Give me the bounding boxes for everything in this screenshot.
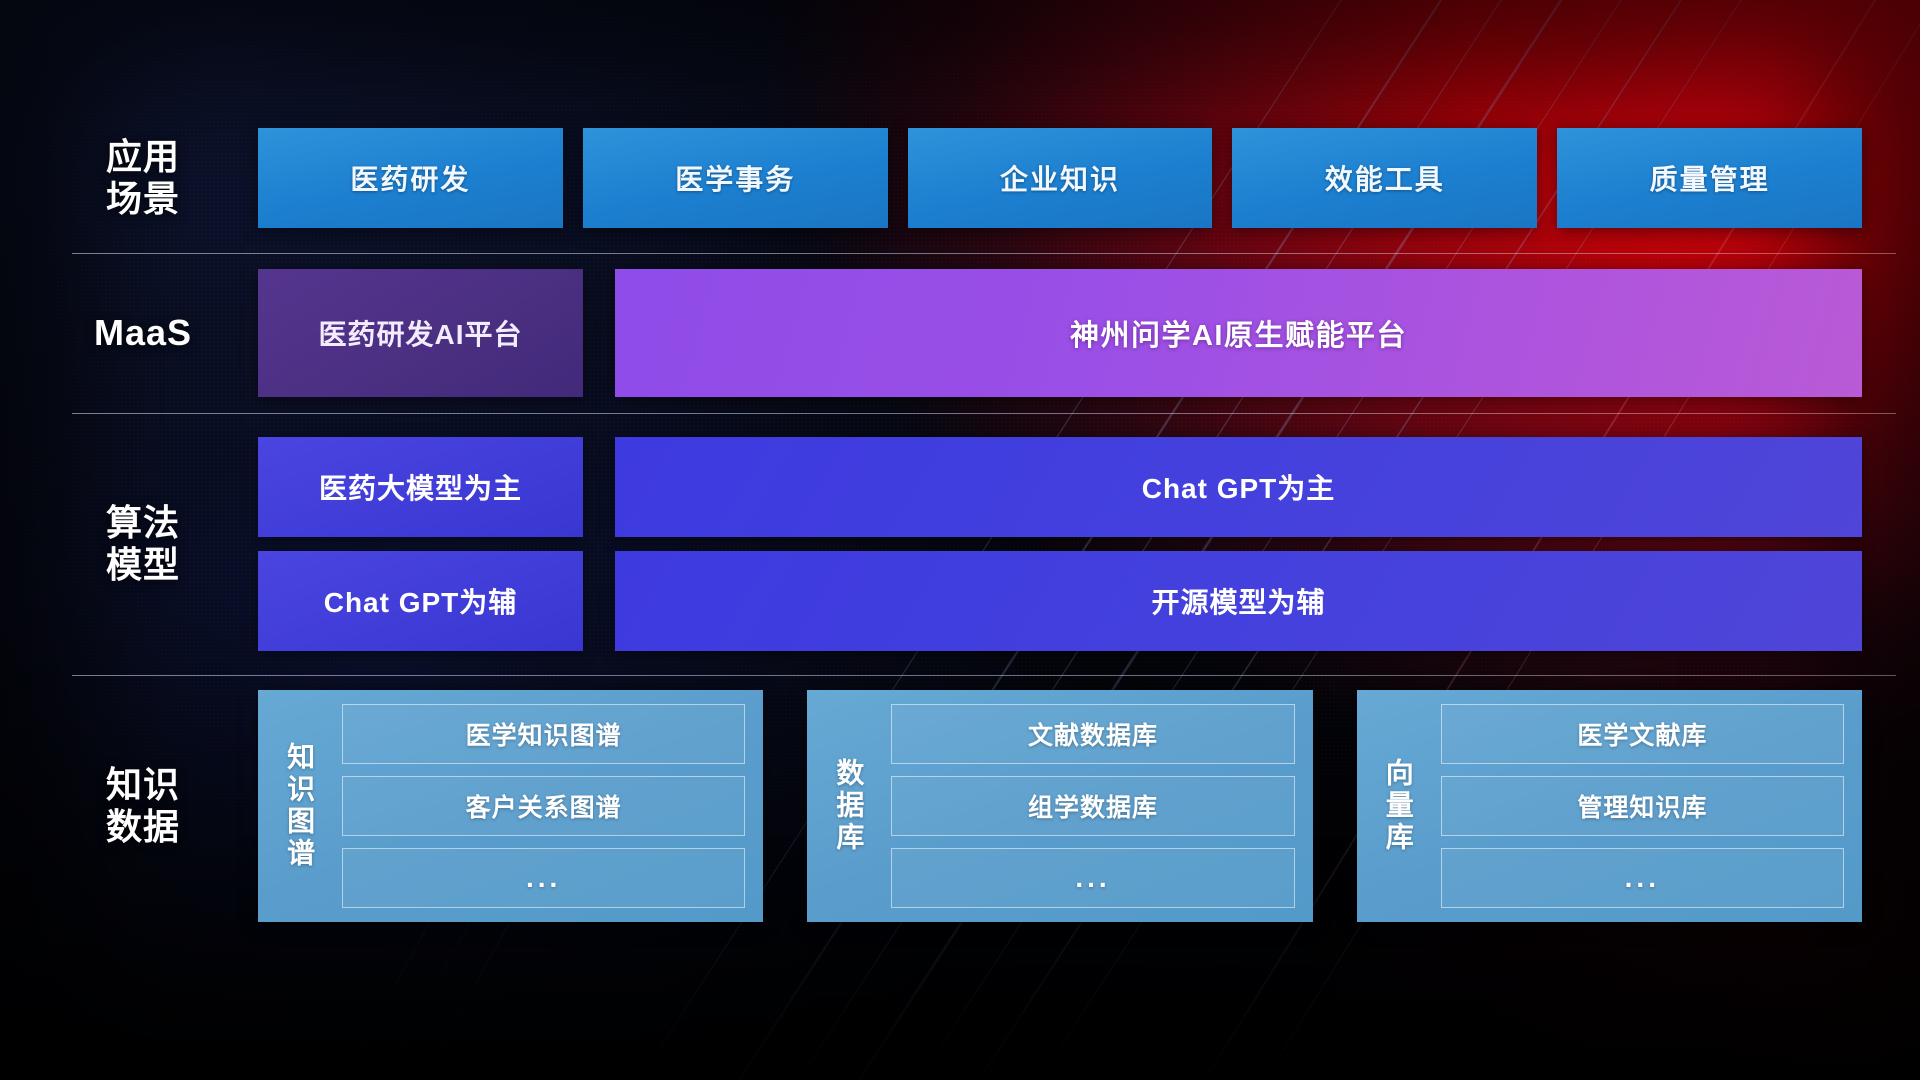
knowledge-item-label: 医学文献库: [1577, 716, 1707, 752]
row-label-algorithm-models: 算法 模型: [0, 502, 258, 587]
app-box-enterprise-knowledge[interactable]: 企业知识: [908, 128, 1213, 228]
knowledge-item-label: 文献数据库: [1028, 716, 1158, 752]
row-maas: 医药研发AI平台 神州问学AI原生赋能平台: [258, 269, 1920, 397]
knowledge-item-more[interactable]: ...: [342, 848, 745, 908]
row-algorithm-models: 医药大模型为主 Chat GPT为主 Chat GPT为辅 开源模型为辅: [258, 437, 1920, 651]
app-box-label: 医学事务: [675, 158, 795, 198]
knowledge-item-management-knowledge-store[interactable]: 管理知识库: [1441, 776, 1844, 836]
knowledge-item-label: 管理知识库: [1577, 788, 1707, 824]
knowledge-group-title: 向量库: [1371, 704, 1425, 908]
algo-line-secondary: Chat GPT为辅 开源模型为辅: [258, 551, 1862, 651]
knowledge-item-label: 组学数据库: [1028, 788, 1158, 824]
architecture-diagram: 应用 场景 医药研发 医学事务 企业知识 效能工具 质量管理 MaaS 医药研发…: [0, 0, 1920, 1080]
knowledge-item-omics-database[interactable]: 组学数据库: [891, 776, 1294, 836]
algo-line-primary: 医药大模型为主 Chat GPT为主: [258, 437, 1862, 537]
app-box-quality-management[interactable]: 质量管理: [1557, 128, 1862, 228]
knowledge-group-knowledge-graph[interactable]: 知识图谱 医学知识图谱 客户关系图谱 ...: [258, 690, 763, 922]
algo-box-label: Chat GPT为辅: [324, 581, 518, 621]
diagram-grid: 应用 场景 医药研发 医学事务 企业知识 效能工具 质量管理 MaaS 医药研发…: [0, 0, 1920, 1080]
maas-box-label: 神州问学AI原生赋能平台: [1070, 312, 1407, 354]
knowledge-group-items: 医学知识图谱 客户关系图谱 ...: [342, 704, 745, 908]
knowledge-item-literature-database[interactable]: 文献数据库: [891, 704, 1294, 764]
knowledge-item-label: 医学知识图谱: [466, 716, 622, 752]
algo-box-label: 开源模型为辅: [1151, 581, 1325, 621]
app-box-label: 企业知识: [1000, 158, 1120, 198]
maas-box-pharma-ai-platform[interactable]: 医药研发AI平台: [258, 269, 583, 397]
algo-box-chatgpt-primary[interactable]: Chat GPT为主: [615, 437, 1862, 537]
knowledge-item-customer-relation-graph[interactable]: 客户关系图谱: [342, 776, 745, 836]
knowledge-group-title: 数据库: [821, 704, 875, 908]
knowledge-item-label: ...: [1075, 862, 1110, 894]
algo-box-pharma-llm-primary[interactable]: 医药大模型为主: [258, 437, 583, 537]
algo-box-label: Chat GPT为主: [1142, 467, 1336, 507]
app-box-label: 质量管理: [1650, 158, 1770, 198]
knowledge-item-label: ...: [1625, 862, 1660, 894]
knowledge-item-more[interactable]: ...: [891, 848, 1294, 908]
app-box-label: 效能工具: [1325, 158, 1445, 198]
knowledge-group-items: 文献数据库 组学数据库 ...: [891, 704, 1294, 908]
divider-after-algorithm-models: [72, 675, 1896, 676]
algo-box-opensource-secondary[interactable]: 开源模型为辅: [615, 551, 1862, 651]
knowledge-item-medical-literature-store[interactable]: 医学文献库: [1441, 704, 1844, 764]
maas-box-label: 医药研发AI平台: [318, 313, 522, 353]
knowledge-item-medical-knowledge-graph[interactable]: 医学知识图谱: [342, 704, 745, 764]
knowledge-group-vector-store[interactable]: 向量库 医学文献库 管理知识库 ...: [1357, 690, 1862, 922]
maas-box-shenzhou-wenxue-platform[interactable]: 神州问学AI原生赋能平台: [615, 269, 1862, 397]
row-knowledge-data: 知识图谱 医学知识图谱 客户关系图谱 ... 数据库: [258, 690, 1920, 922]
app-box-efficiency-tools[interactable]: 效能工具: [1232, 128, 1537, 228]
algo-box-label: 医药大模型为主: [319, 467, 522, 507]
row-label-knowledge-data: 知识 数据: [0, 764, 258, 849]
divider-after-applications: [72, 253, 1896, 254]
knowledge-group-title: 知识图谱: [272, 704, 326, 908]
knowledge-group-database[interactable]: 数据库 文献数据库 组学数据库 ...: [807, 690, 1312, 922]
app-box-medical-affairs[interactable]: 医学事务: [583, 128, 888, 228]
knowledge-item-more[interactable]: ...: [1441, 848, 1844, 908]
row-application-scenarios: 医药研发 医学事务 企业知识 效能工具 质量管理: [258, 128, 1920, 228]
knowledge-item-label: 客户关系图谱: [466, 788, 622, 824]
knowledge-group-items: 医学文献库 管理知识库 ...: [1441, 704, 1844, 908]
row-label-application-scenarios: 应用 场景: [0, 136, 258, 221]
row-label-maas: MaaS: [0, 312, 258, 354]
algo-box-chatgpt-secondary[interactable]: Chat GPT为辅: [258, 551, 583, 651]
app-box-label: 医药研发: [350, 158, 470, 198]
divider-after-maas: [72, 413, 1896, 414]
app-box-medicine-rd[interactable]: 医药研发: [258, 128, 563, 228]
knowledge-item-label: ...: [526, 862, 561, 894]
